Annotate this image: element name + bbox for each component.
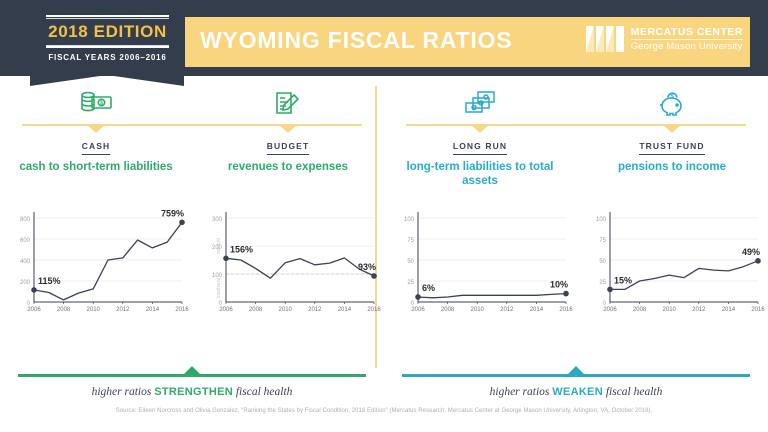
svg-text:2008: 2008 (249, 307, 263, 313)
banner-emphasis-left: STRENGTHEN (154, 386, 233, 398)
chart-cell-cash: 0200400600800200620082010201220142016115… (0, 198, 192, 328)
svg-text:600: 600 (20, 238, 31, 244)
subtitle-cash: cash to short-term liabilities (16, 160, 176, 174)
chart-cell-trust-fund: 025507510020062008201020122014201615%49% (576, 198, 768, 328)
subtitle-budget: revenues to expenses (208, 160, 368, 174)
svg-text:2014: 2014 (722, 307, 736, 313)
svg-text:2012: 2012 (116, 307, 130, 313)
left-rule-line (22, 124, 362, 126)
banner-suffix-right: fiscal health (603, 386, 662, 398)
banner-text-strengthen: higher ratios STRENGTHEN fiscal health (0, 386, 384, 398)
left-category-row: CASH BUDGET (0, 136, 384, 155)
svg-text:2014: 2014 (530, 307, 544, 313)
subtitle-cell-long-run: long-term liabilities to total assets (384, 160, 576, 188)
svg-text:75: 75 (407, 238, 414, 244)
banner-suffix-left: fiscal health (233, 386, 292, 398)
badge-title: 2018 EDITION (40, 19, 175, 44)
money-cash-icon: $ (79, 90, 113, 118)
icon-cell-cash: $ (0, 84, 192, 124)
svg-text:156%: 156% (230, 244, 253, 254)
svg-text:50: 50 (407, 259, 414, 265)
svg-text:115%: 115% (38, 276, 61, 286)
svg-text:$: $ (670, 94, 674, 100)
category-cell-budget: BUDGET (192, 136, 384, 155)
category-cell-long-run: LONG RUN (384, 136, 576, 155)
chart-budget: 0100200300solventinsolvent20062008201020… (192, 198, 384, 328)
svg-text:759%: 759% (161, 208, 184, 218)
right-charts-row: 02550751002006200820102012201420166%10% … (384, 198, 768, 328)
category-cell-trust-fund: TRUST FUND (576, 136, 768, 155)
svg-text:2010: 2010 (663, 307, 677, 313)
category-cell-cash: CASH (0, 136, 192, 155)
footer-banners: higher ratios STRENGTHEN fiscal health h… (0, 366, 768, 406)
left-charts-row: 0200400600800200620082010201220142016115… (0, 198, 384, 328)
svg-text:10%: 10% (550, 280, 568, 290)
stacked-bills-icon (463, 90, 497, 118)
banner-strengthen: higher ratios STRENGTHEN fiscal health (0, 366, 384, 406)
left-arrow-cash (88, 126, 104, 133)
chart-cash: 0200400600800200620082010201220142016115… (0, 198, 192, 328)
svg-text:25: 25 (599, 280, 606, 286)
right-arrow-long-run (472, 126, 488, 133)
subtitle-cell-budget: revenues to expenses (192, 160, 384, 174)
left-subtitle-row: cash to short-term liabilities revenues … (0, 160, 384, 174)
svg-text:2010: 2010 (87, 307, 101, 313)
chart-cell-long-run: 02550751002006200820102012201420166%10% (384, 198, 576, 328)
content-area: $ (0, 76, 768, 432)
header: 2018 EDITION FISCAL YEARS 2006–2016 WYOM… (0, 0, 768, 76)
source-note: Source: Eileen Norcross and Olivia Gonza… (0, 408, 768, 414)
right-rule-line (406, 124, 746, 126)
svg-text:2008: 2008 (441, 307, 455, 313)
svg-text:2012: 2012 (500, 307, 514, 313)
right-arrow-trust-fund (664, 126, 680, 133)
icon-cell-budget (192, 84, 384, 124)
svg-text:49%: 49% (742, 247, 760, 257)
category-label-long-run: LONG RUN (453, 141, 507, 155)
right-category-row: LONG RUN TRUST FUND (384, 136, 768, 155)
svg-text:100: 100 (596, 217, 607, 223)
svg-text:solvent: solvent (216, 237, 222, 253)
svg-text:2012: 2012 (692, 307, 706, 313)
svg-text:2006: 2006 (411, 307, 425, 313)
category-label-cash: CASH (82, 141, 111, 155)
svg-text:75: 75 (599, 238, 606, 244)
piggy-bank-icon: $ (657, 90, 687, 118)
infographic-page: 2018 EDITION FISCAL YEARS 2006–2016 WYOM… (0, 0, 768, 432)
banner-text-weaken: higher ratios WEAKEN fiscal health (384, 386, 768, 398)
svg-text:300: 300 (212, 217, 223, 223)
subtitle-cell-cash: cash to short-term liabilities (0, 160, 192, 174)
svg-text:2016: 2016 (367, 307, 381, 313)
svg-text:93%: 93% (358, 262, 376, 272)
subtitle-cell-trust-fund: pensions to income (576, 160, 768, 188)
banner-prefix-left: higher ratios (92, 386, 155, 398)
svg-text:insolvent: insolvent (216, 278, 222, 298)
chart-long-run: 02550751002006200820102012201420166%10% (384, 198, 576, 328)
svg-text:$: $ (100, 101, 103, 107)
badge-rule-top (46, 15, 169, 17)
svg-text:25: 25 (407, 280, 414, 286)
left-arrow-budget (280, 126, 296, 133)
banner-emphasis-right: WEAKEN (552, 386, 603, 398)
svg-text:100: 100 (212, 273, 223, 279)
banner-prefix-right: higher ratios (490, 386, 553, 398)
svg-text:2014: 2014 (338, 307, 352, 313)
chart-cell-budget: 0100200300solventinsolvent20062008201020… (192, 198, 384, 328)
svg-text:2006: 2006 (219, 307, 233, 313)
category-label-trust-fund: TRUST FUND (639, 141, 704, 155)
svg-text:50: 50 (599, 259, 606, 265)
svg-text:2006: 2006 (27, 307, 41, 313)
subtitle-long-run: long-term liabilities to total assets (400, 160, 560, 188)
mercatus-name: MERCATUS CENTER (631, 26, 743, 38)
icon-cell-long-run (384, 84, 576, 124)
svg-text:2006: 2006 (603, 307, 617, 313)
svg-text:15%: 15% (614, 275, 632, 285)
page-title: WYOMING FISCAL RATIOS (200, 27, 512, 54)
left-rule-row (0, 124, 384, 133)
right-icon-row: $ (384, 84, 768, 124)
mercatus-logo-icon (586, 24, 624, 54)
left-icon-row: $ (0, 84, 384, 124)
banner-arrow-teal (567, 366, 585, 375)
svg-text:2008: 2008 (57, 307, 71, 313)
svg-text:800: 800 (20, 217, 31, 223)
svg-text:2010: 2010 (279, 307, 293, 313)
svg-text:2016: 2016 (175, 307, 189, 313)
svg-text:200: 200 (20, 280, 31, 286)
badge-subtitle: FISCAL YEARS 2006–2016 (40, 48, 175, 62)
right-rule-row (384, 124, 768, 133)
mercatus-subtitle: George Mason University (631, 41, 743, 53)
mercatus-logo: MERCATUS CENTER George Mason University (586, 24, 743, 54)
svg-text:6%: 6% (422, 283, 435, 293)
svg-text:2008: 2008 (633, 307, 647, 313)
chart-trust-fund: 025507510020062008201020122014201615%49% (576, 198, 768, 328)
svg-text:400: 400 (20, 259, 31, 265)
svg-text:2016: 2016 (559, 307, 573, 313)
banner-arrow-green (183, 366, 201, 375)
banner-weaken: higher ratios WEAKEN fiscal health (384, 366, 768, 406)
subtitle-trust-fund: pensions to income (592, 160, 752, 174)
svg-text:2014: 2014 (146, 307, 160, 313)
svg-text:100: 100 (404, 217, 415, 223)
right-subtitle-row: long-term liabilities to total assets pe… (384, 160, 768, 188)
icon-cell-trust-fund: $ (576, 84, 768, 124)
svg-text:2016: 2016 (751, 307, 765, 313)
svg-text:2012: 2012 (308, 307, 322, 313)
svg-text:2010: 2010 (471, 307, 485, 313)
edition-badge: 2018 EDITION FISCAL YEARS 2006–2016 (30, 5, 185, 75)
category-label-budget: BUDGET (267, 141, 310, 155)
mercatus-divider (631, 39, 743, 40)
budget-document-pencil-icon (273, 90, 303, 118)
